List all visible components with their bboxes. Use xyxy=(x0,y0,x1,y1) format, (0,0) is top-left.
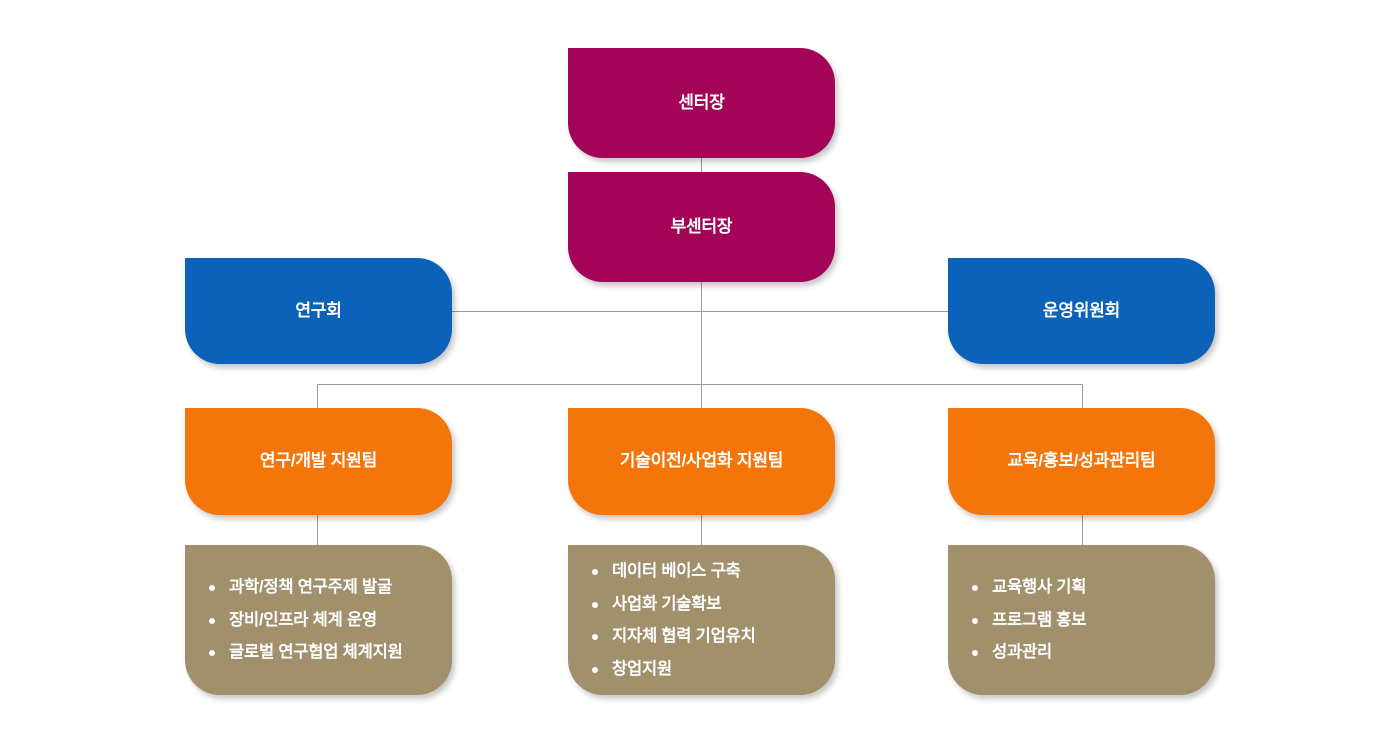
node-center-director-label: 센터장 xyxy=(678,93,724,113)
duty-item: 장비/인프라 체계 운영 xyxy=(207,612,436,629)
node-team-education-label: 교육/홍보/성과관리팀 xyxy=(1007,451,1155,471)
duty-item: 글로벌 연구협업 체계지원 xyxy=(207,644,436,661)
node-deputy-director-label: 부센터장 xyxy=(671,217,733,237)
node-steering-committee[interactable]: 운영위원회 xyxy=(948,258,1215,364)
duty-item: 지자체 협력 기업유치 xyxy=(590,628,819,645)
duty-item: 사업화 기술확보 xyxy=(590,596,819,613)
node-research-council-label: 연구회 xyxy=(295,301,341,321)
duty-list-education: 교육행사 기획프로그램 홍보성과관리 xyxy=(970,579,1199,661)
duty-item: 과학/정책 연구주제 발굴 xyxy=(207,579,436,596)
node-duties-education: 교육행사 기획프로그램 홍보성과관리 xyxy=(948,545,1215,695)
node-duties-rnd: 과학/정책 연구주제 발굴장비/인프라 체계 운영글로벌 연구협업 체계지원 xyxy=(185,545,452,695)
node-team-rnd[interactable]: 연구/개발 지원팀 xyxy=(185,408,452,515)
node-team-rnd-label: 연구/개발 지원팀 xyxy=(260,451,377,471)
node-team-education[interactable]: 교육/홍보/성과관리팀 xyxy=(948,408,1215,515)
org-chart: 센터장 부센터장 연구회 운영위원회 연구/개발 지원팀 기술이전/사업화 지원… xyxy=(0,0,1400,750)
duty-item: 창업지원 xyxy=(590,661,819,678)
duty-item: 프로그램 홍보 xyxy=(970,612,1199,629)
duty-item: 성과관리 xyxy=(970,644,1199,661)
duty-list-transfer: 데이터 베이스 구축사업화 기술확보지자체 협력 기업유치창업지원 xyxy=(590,563,819,677)
node-team-transfer[interactable]: 기술이전/사업화 지원팀 xyxy=(568,408,835,515)
duty-item: 데이터 베이스 구축 xyxy=(590,563,819,580)
duty-list-rnd: 과학/정책 연구주제 발굴장비/인프라 체계 운영글로벌 연구협업 체계지원 xyxy=(207,579,436,661)
node-deputy-director[interactable]: 부센터장 xyxy=(568,172,835,282)
node-team-transfer-label: 기술이전/사업화 지원팀 xyxy=(620,451,783,471)
node-center-director[interactable]: 센터장 xyxy=(568,48,835,158)
node-duties-transfer: 데이터 베이스 구축사업화 기술확보지자체 협력 기업유치창업지원 xyxy=(568,545,835,695)
node-research-council[interactable]: 연구회 xyxy=(185,258,452,364)
duty-item: 교육행사 기획 xyxy=(970,579,1199,596)
node-steering-committee-label: 운영위원회 xyxy=(1043,301,1120,321)
